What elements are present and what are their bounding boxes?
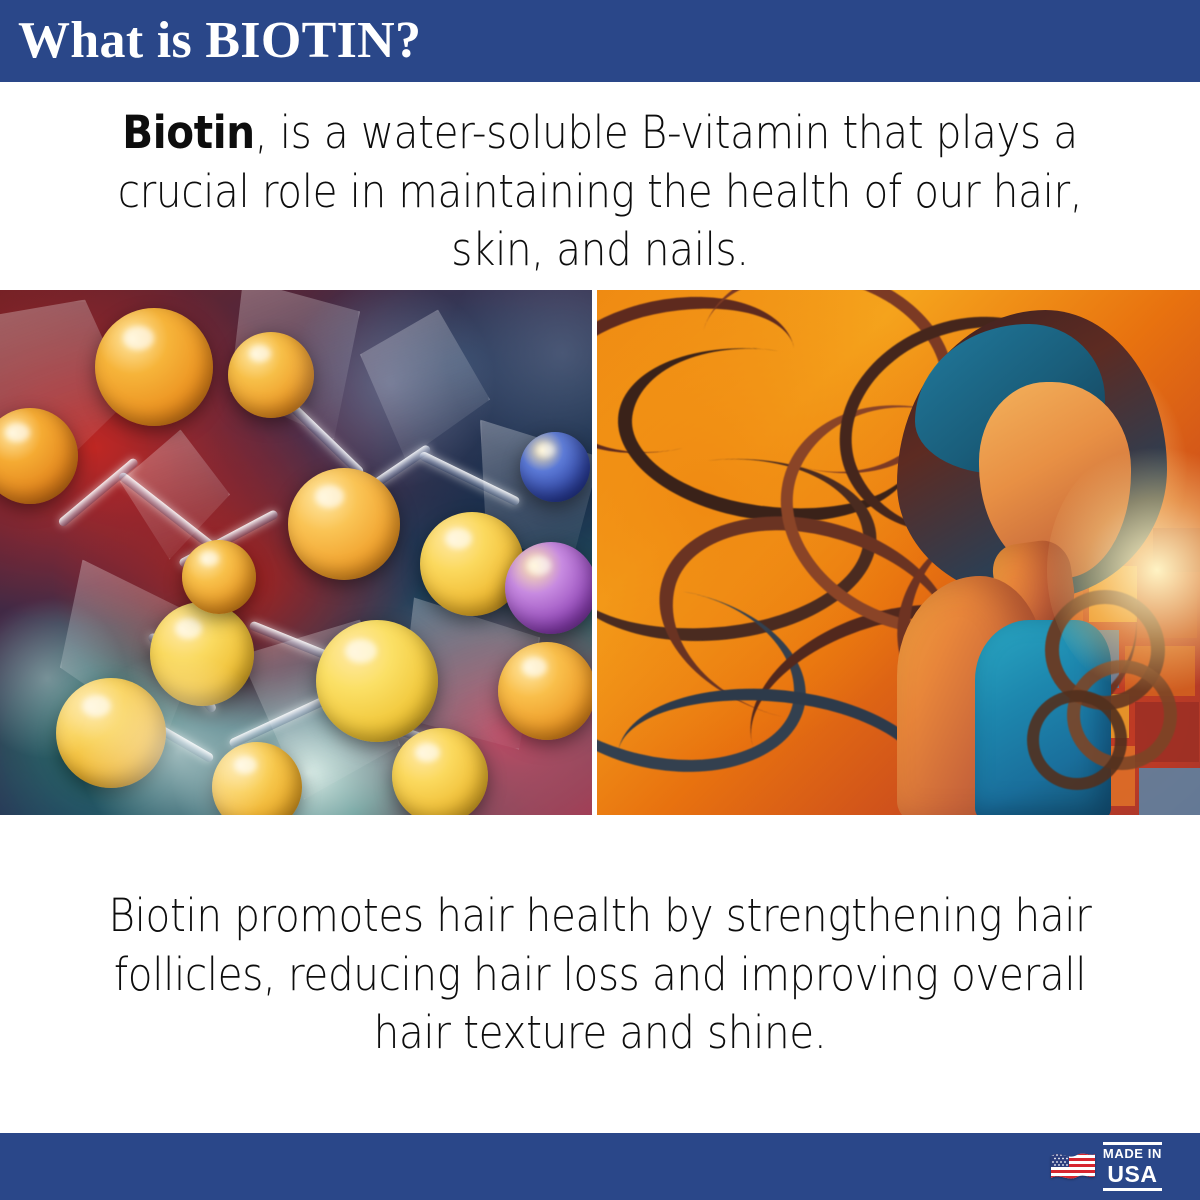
mosaic-tile <box>1153 528 1200 572</box>
page-title: What is BIOTIN? <box>18 15 421 67</box>
molecule-light-haze <box>0 290 592 815</box>
woman-hair-image <box>597 290 1200 815</box>
hair-curl <box>1027 690 1127 790</box>
usa-flag-icon <box>1050 1151 1096 1183</box>
intro-lead-word: Biotin <box>122 106 254 159</box>
badge-top-bar <box>1103 1142 1162 1145</box>
image-strip <box>0 290 1200 815</box>
made-in-usa-badge: MADE IN USA <box>1050 1142 1162 1191</box>
usa-label: USA <box>1103 1163 1162 1186</box>
intro-section: Biotin, is a water-soluble B-vitamin tha… <box>0 82 1200 290</box>
made-in-usa-text: MADE IN USA <box>1103 1142 1162 1191</box>
intro-paragraph: Biotin, is a water-soluble B-vitamin tha… <box>85 104 1115 280</box>
mosaic-tile <box>1139 768 1200 815</box>
intro-rest-text: , is a water-soluble B-vitamin that play… <box>118 106 1083 276</box>
biotin-molecule-image <box>0 290 592 815</box>
outro-section: Biotin promotes hair health by strengthe… <box>0 815 1200 1134</box>
outro-paragraph: Biotin promotes hair health by strengthe… <box>83 887 1116 1063</box>
footer-bar: MADE IN USA <box>0 1133 1200 1200</box>
header-bar: What is BIOTIN? <box>0 0 1200 82</box>
infographic-page: What is BIOTIN? Biotin, is a water-solub… <box>0 0 1200 1200</box>
made-in-label: MADE IN <box>1103 1147 1162 1161</box>
badge-bottom-bar <box>1103 1188 1162 1191</box>
